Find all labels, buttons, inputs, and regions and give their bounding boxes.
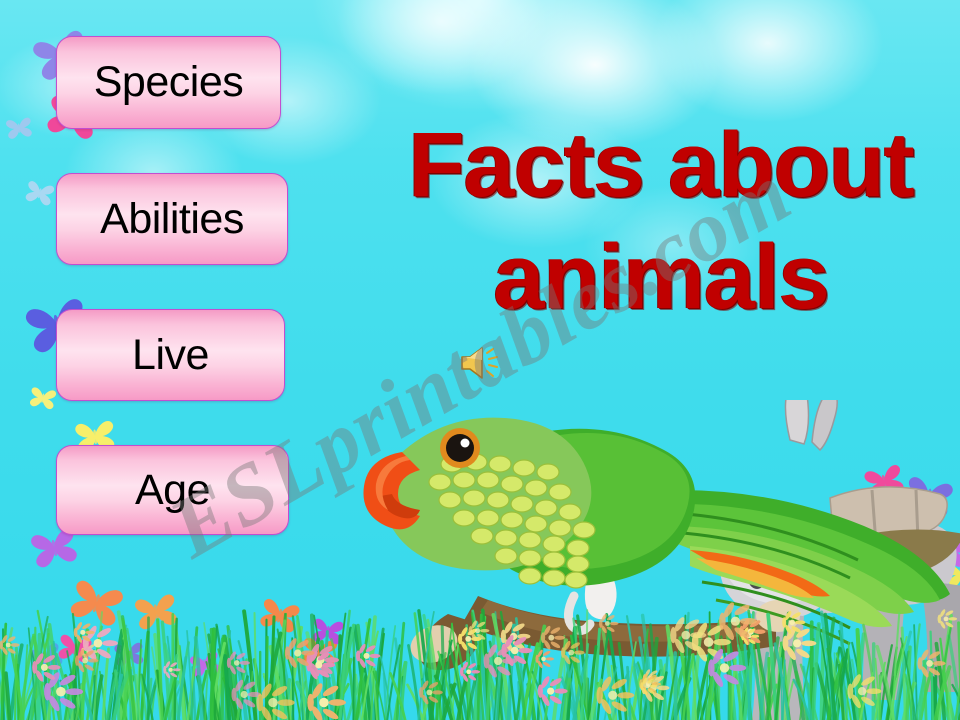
butterfly-icon <box>128 582 184 638</box>
slide-canvas: SpeciesAbilitiesLiveAge Facts about anim… <box>0 0 960 720</box>
speaker-sound-icon[interactable] <box>458 344 504 382</box>
butterfly-icon <box>110 634 147 671</box>
butterfly-icon <box>308 610 349 651</box>
menu-button-label: Live <box>132 334 209 377</box>
navigation-menu: SpeciesAbilitiesLiveAge <box>56 36 288 535</box>
butterfly-icon <box>53 625 97 669</box>
menu-button-live[interactable]: Live <box>56 309 285 401</box>
menu-button-abilities[interactable]: Abilities <box>56 173 288 265</box>
butterfly-icon <box>2 110 36 144</box>
menu-button-age[interactable]: Age <box>56 445 289 535</box>
menu-button-label: Species <box>94 61 243 104</box>
menu-button-label: Abilities <box>100 198 244 241</box>
menu-button-species[interactable]: Species <box>56 36 281 129</box>
menu-button-label: Age <box>135 469 210 512</box>
